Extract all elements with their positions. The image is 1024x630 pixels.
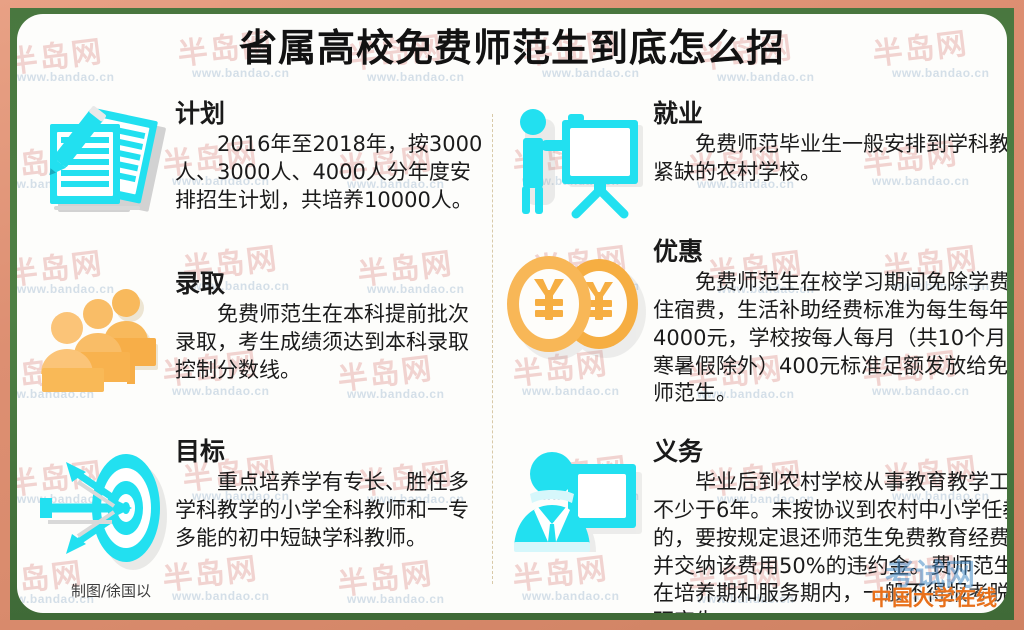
right-column: 就业 免费师范毕业生一般安排到学科教师紧缺的农村学校。 (503, 100, 1007, 613)
section-title-benefits: 优惠 (653, 238, 1007, 267)
section-benefits: 优惠 免费师范生在校学习期间免除学费、住宿费，生活补助经费标准为每生每年4000… (503, 238, 1007, 428)
yuan-coins-icon (503, 238, 653, 372)
admission-text: 录取 免费师范生在本科提前批次录取，考生成绩须达到本科录取控制分数线。 (175, 270, 487, 385)
section-employment: 就业 免费师范毕业生一般安排到学科教师紧缺的农村学校。 (503, 100, 1007, 228)
section-title-goal: 目标 (175, 438, 487, 467)
benefits-text: 优惠 免费师范生在校学习期间免除学费、住宿费，生活补助经费标准为每生每年4000… (653, 238, 1007, 408)
section-body-employment: 免费师范毕业生一般安排到学科教师紧缺的农村学校。 (653, 131, 1007, 187)
section-admission: 录取 免费师范生在本科提前批次录取，考生成绩须达到本科录取控制分数线。 (25, 270, 487, 428)
teacher-whiteboard-icon (503, 100, 653, 222)
section-goal: 目标 重点培养学有专长、胜任多学科教学的小学全科教师和一专多能的初中短缺学科教师… (25, 438, 487, 588)
section-plan: 计划 2016年至2018年，按3000人、3000人、4000人分年度安排招生… (25, 100, 487, 260)
section-body-goal: 重点培养学有专长、胜任多学科教学的小学全科教师和一专多能的初中短缺学科教师。 (175, 469, 487, 553)
page-title: 省属高校免费师范生到底怎么招 (17, 28, 1007, 70)
teacher-board-person-icon (503, 438, 653, 568)
section-title-employment: 就业 (653, 100, 1007, 129)
section-body-benefits: 免费师范生在校学习期间免除学费、住宿费，生活补助经费标准为每生每年4000元，学… (653, 269, 1007, 409)
column-divider (492, 114, 493, 584)
poster-card: 半岛网 半岛网 半岛网 半岛网 半岛网 半岛网 半岛网 半岛网 半岛网 半岛网 … (17, 14, 1007, 613)
target-arrows-icon (25, 438, 175, 576)
green-frame: 半岛网 半岛网 半岛网 半岛网 半岛网 半岛网 半岛网 半岛网 半岛网 半岛网 … (10, 8, 1014, 620)
infographic-poster: 半岛网 半岛网 半岛网 半岛网 半岛网 半岛网 半岛网 半岛网 半岛网 半岛网 … (0, 0, 1024, 630)
credit-line: 制图/徐国以 (71, 580, 151, 601)
section-body-plan: 2016年至2018年，按3000人、3000人、4000人分年度安排招生计划，… (175, 131, 487, 215)
students-desks-icon (25, 270, 175, 394)
site-stamp: 考试网 中国大学在线 (871, 588, 997, 609)
stamp-front-text: 中国大学在线 (871, 588, 997, 609)
notebook-pencil-icon (25, 100, 175, 222)
left-column: 计划 2016年至2018年，按3000人、3000人、4000人分年度安排招生… (25, 100, 487, 598)
section-body-admission: 免费师范生在本科提前批次录取，考生成绩须达到本科录取控制分数线。 (175, 301, 487, 385)
goal-text: 目标 重点培养学有专长、胜任多学科教学的小学全科教师和一专多能的初中短缺学科教师… (175, 438, 487, 553)
plan-text: 计划 2016年至2018年，按3000人、3000人、4000人分年度安排招生… (175, 100, 487, 215)
section-title-admission: 录取 (175, 270, 487, 299)
employment-text: 就业 免费师范毕业生一般安排到学科教师紧缺的农村学校。 (653, 100, 1007, 187)
poster-content: 省属高校免费师范生到底怎么招 (17, 14, 1007, 613)
section-title-obligation: 义务 (653, 438, 1007, 467)
section-title-plan: 计划 (175, 100, 487, 129)
